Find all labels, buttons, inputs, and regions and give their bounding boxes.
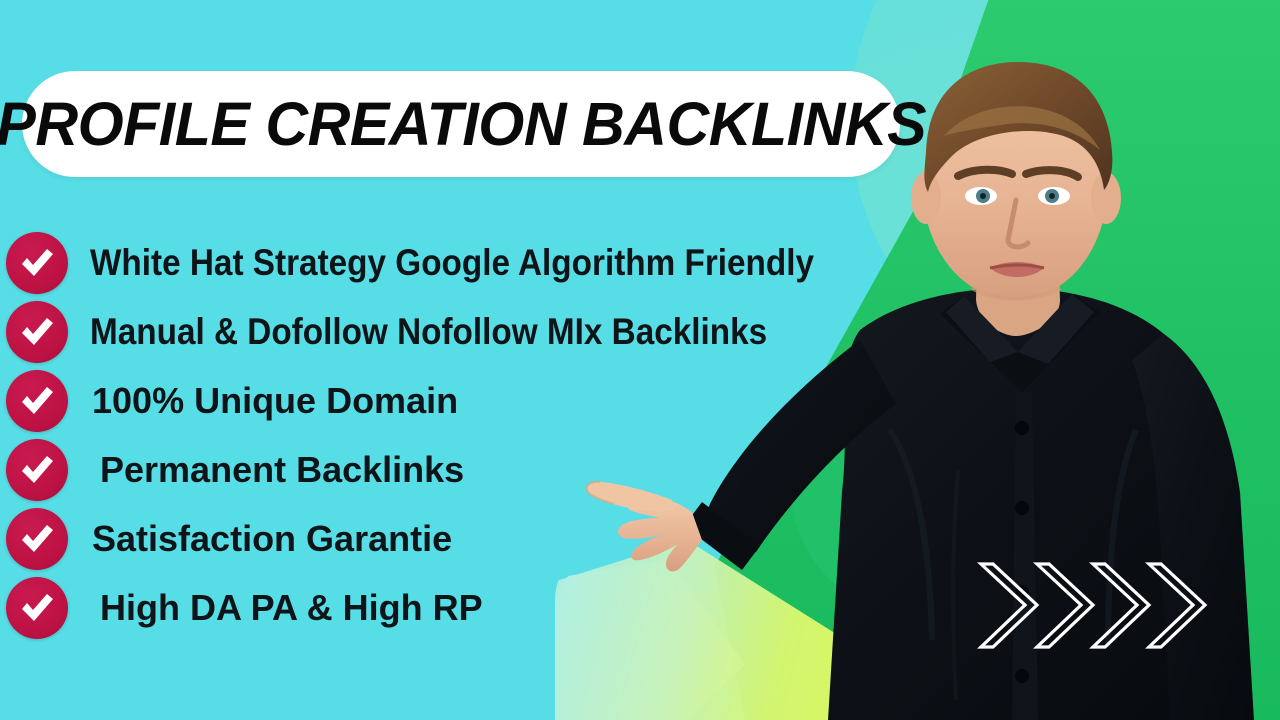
feature-item: High DA PA & High RP: [0, 573, 920, 642]
check-icon: [6, 232, 68, 294]
chevron-right-icon: [1149, 564, 1205, 647]
page-title: PROFILE CREATION BACKLINKS: [0, 94, 926, 155]
chevron-right-icon: [981, 564, 1037, 647]
feature-label: Manual & Dofollow Nofollow MIx Backlinks: [90, 313, 767, 350]
check-icon: [6, 508, 68, 570]
feature-label: Satisfaction Garantie: [92, 521, 452, 557]
title-pill: PROFILE CREATION BACKLINKS: [22, 71, 900, 177]
feature-label: 100% Unique Domain: [92, 383, 458, 419]
chevron-right-icon: [1093, 564, 1149, 647]
chevron-right-icon: [1037, 564, 1093, 647]
check-icon: [6, 577, 68, 639]
feature-label: High DA PA & High RP: [100, 590, 483, 626]
feature-item: Manual & Dofollow Nofollow MIx Backlinks: [0, 297, 920, 366]
feature-label: White Hat Strategy Google Algorithm Frie…: [90, 244, 814, 281]
feature-list: White Hat Strategy Google Algorithm Frie…: [0, 228, 920, 642]
feature-item: Satisfaction Garantie: [0, 504, 920, 573]
feature-item: Permanent Backlinks: [0, 435, 920, 504]
feature-item: White Hat Strategy Google Algorithm Frie…: [0, 228, 920, 297]
check-icon: [6, 301, 68, 363]
check-icon: [6, 370, 68, 432]
check-icon: [6, 439, 68, 501]
feature-label: Permanent Backlinks: [100, 452, 464, 488]
chevron-arrows-group: [975, 558, 1215, 653]
feature-item: 100% Unique Domain: [0, 366, 920, 435]
promo-banner: PROFILE CREATION BACKLINKS White Hat Str…: [0, 0, 1280, 720]
